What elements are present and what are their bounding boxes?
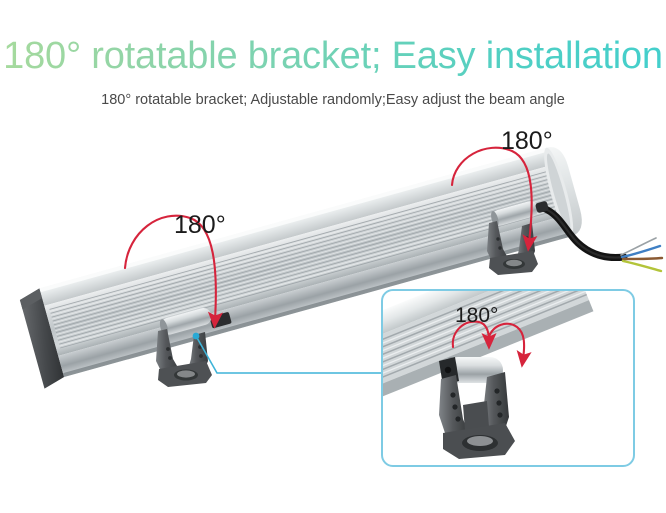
power-cable <box>535 201 662 271</box>
inset-illustration <box>383 291 629 461</box>
inset-bracket <box>439 357 515 459</box>
callout-detail-box <box>381 289 635 467</box>
page-subtitle: 180° rotatable bracket; Adjustable rando… <box>0 90 666 110</box>
angle-label-right: 180° <box>501 127 553 155</box>
angle-label-left: 180° <box>174 211 226 239</box>
rotation-arrow-right <box>452 148 532 243</box>
page-title: 180° rotatable bracket; Easy installatio… <box>0 33 666 79</box>
angle-label-inset: 180° <box>455 302 498 330</box>
promo-banner: 180° rotatable bracket; Easy installatio… <box>0 0 666 513</box>
callout-anchor-dot <box>193 333 200 340</box>
